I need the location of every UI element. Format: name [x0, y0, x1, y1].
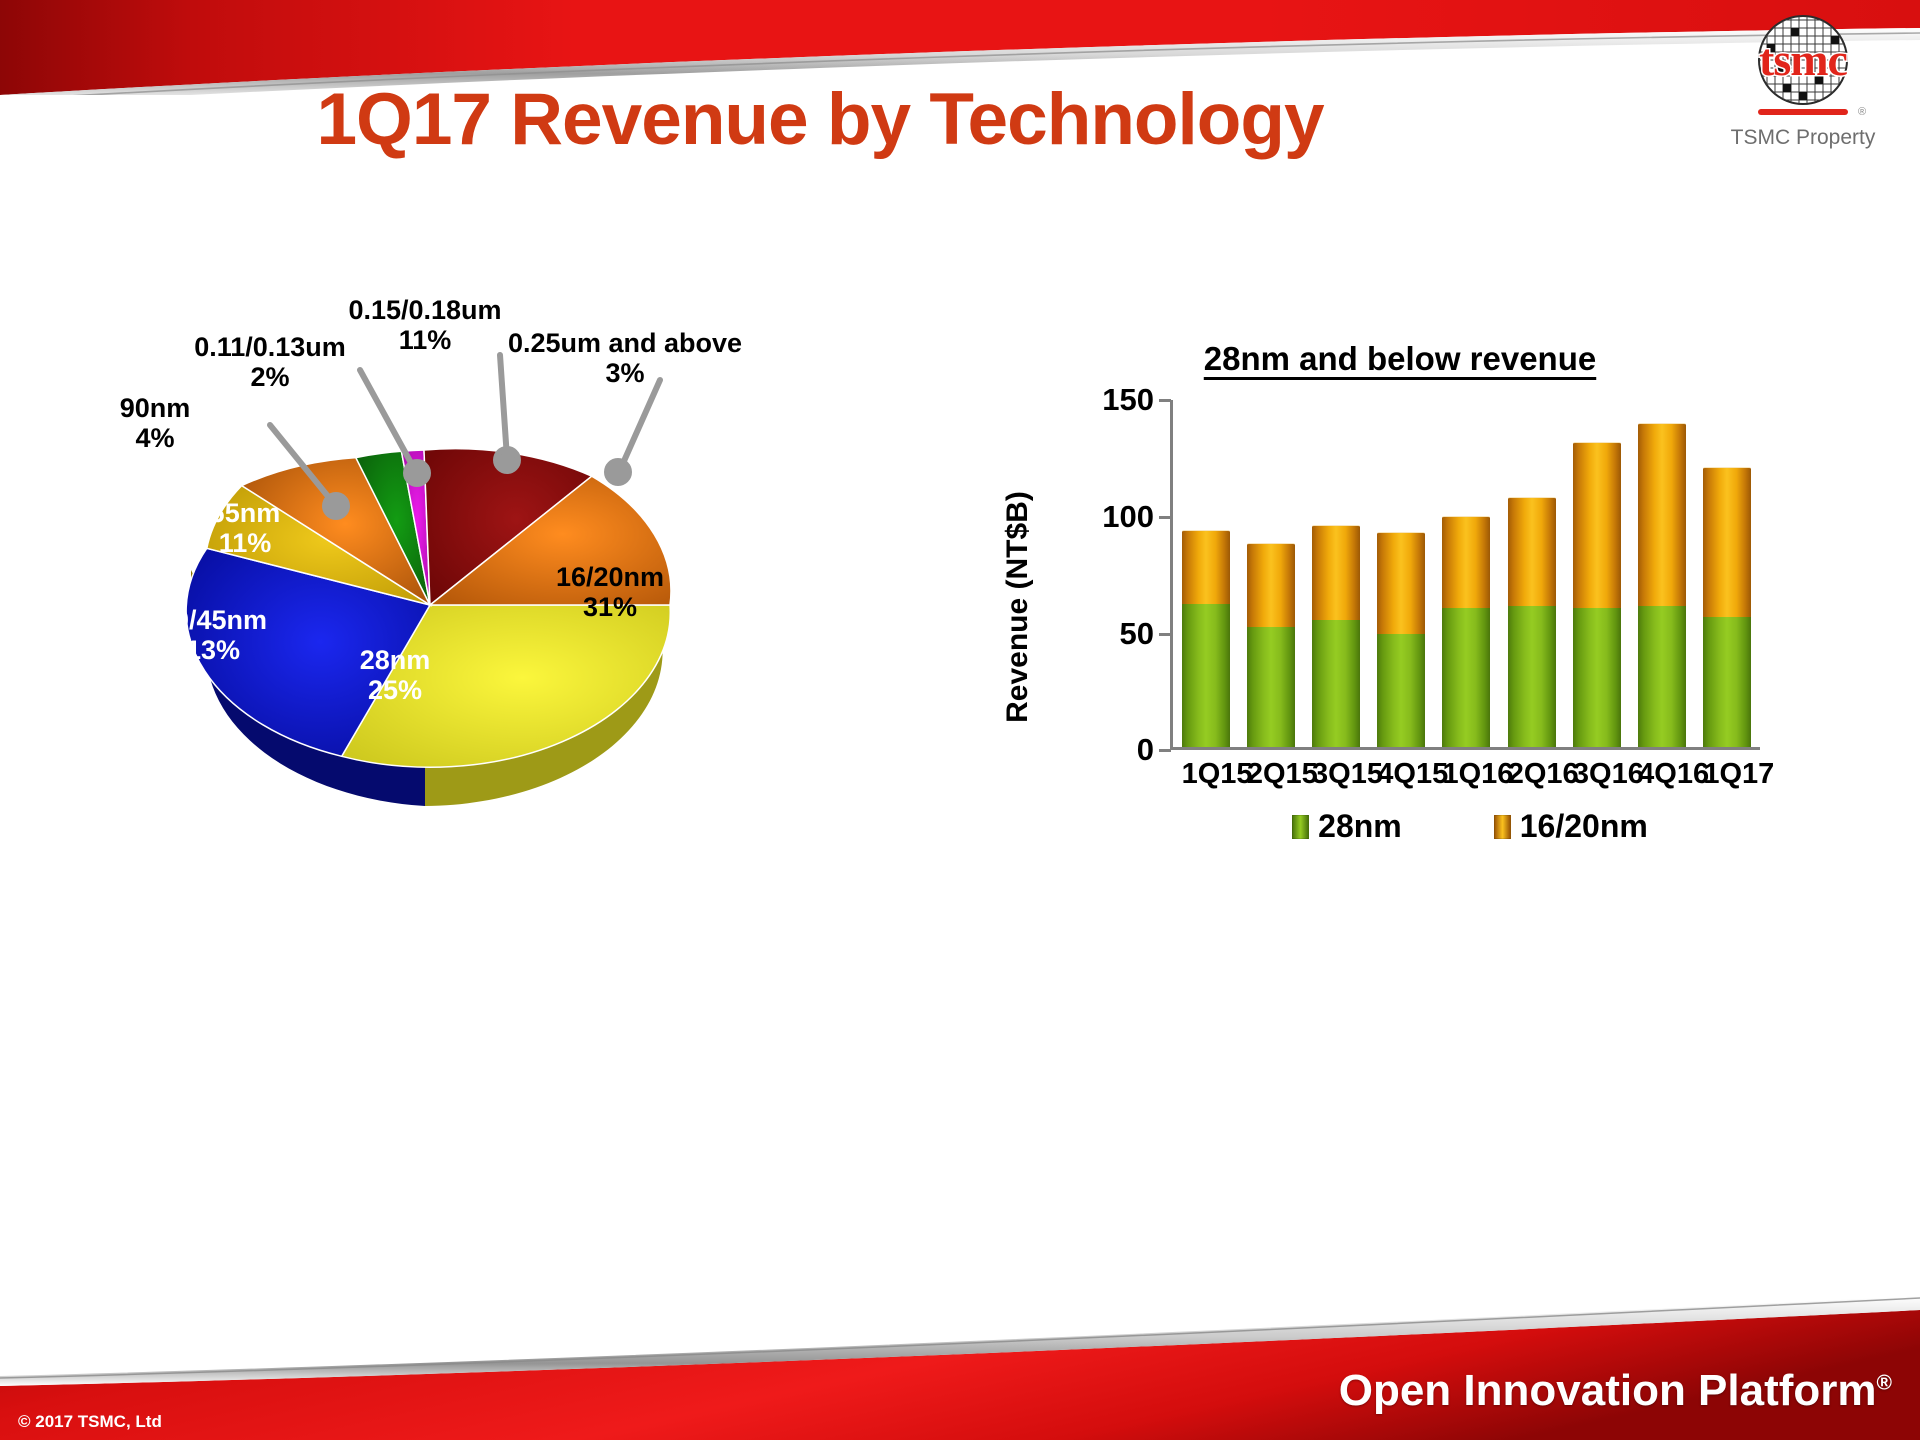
bar-segment-28nm — [1312, 620, 1360, 747]
y-tick-mark-50 — [1159, 633, 1171, 636]
x-axis-label: 1Q15 — [1182, 758, 1230, 791]
bar-chart: 28nm and below revenue Revenue (NT$B) 15… — [1020, 340, 1780, 1040]
bar-segment-16-20nm — [1377, 532, 1425, 634]
bar-chart-title: 28nm and below revenue — [1020, 340, 1780, 378]
legend-item: 28nm — [1292, 808, 1402, 845]
bar-chart-legend: 28nm16/20nm — [1170, 808, 1770, 845]
pie-callout-025um-above: 0.25um and above 3% — [480, 328, 770, 388]
x-axis-label: 3Q15 — [1312, 758, 1360, 791]
open-innovation-platform-brand: Open Innovation Platform® — [1339, 1366, 1892, 1416]
bar-segment-28nm — [1442, 608, 1490, 747]
bar-column — [1182, 530, 1230, 747]
bar-column — [1703, 467, 1751, 747]
copyright-notice: © 2017 TSMC, Ltd — [18, 1412, 162, 1432]
x-axis-label: 1Q16 — [1442, 758, 1490, 791]
x-axis-line — [1170, 747, 1760, 750]
y-tick-mark-150 — [1159, 399, 1171, 402]
legend-label: 28nm — [1318, 808, 1402, 845]
bar-segment-28nm — [1703, 617, 1751, 747]
y-tick-label-150: 150 — [1102, 382, 1154, 418]
bar-segment-16-20nm — [1508, 497, 1556, 606]
bar-segment-16-20nm — [1703, 467, 1751, 617]
slide-title: 1Q17 Revenue by Technology — [0, 78, 1640, 161]
bar-chart-y-axis-label: Revenue (NT$B) — [1001, 417, 1035, 797]
tsmc-property-caption: TSMC Property — [1708, 126, 1898, 150]
bar-chart-plot-area: 150 100 50 0 — [1170, 400, 1760, 750]
tsmc-logo-icon: tsmc ® — [1708, 12, 1898, 124]
pie-callout-90nm: 90nm 4% — [100, 393, 210, 453]
x-axis-label: 4Q15 — [1377, 758, 1425, 791]
bar-column — [1312, 525, 1360, 747]
pie-label-28nm: 28nm 25% — [320, 645, 470, 705]
bottom-decorative-banner: Open Innovation Platform® © 2017 TSMC, L… — [0, 1290, 1920, 1440]
bar-segment-16-20nm — [1638, 423, 1686, 606]
bar-group — [1173, 400, 1760, 747]
bar-column — [1377, 532, 1425, 747]
bar-segment-28nm — [1182, 604, 1230, 747]
legend-swatch-icon — [1494, 815, 1511, 839]
x-axis-label: 2Q15 — [1247, 758, 1295, 791]
bar-segment-16-20nm — [1442, 516, 1490, 609]
legend-item: 16/20nm — [1494, 808, 1648, 845]
bar-segment-28nm — [1638, 606, 1686, 747]
bar-chart-x-axis-labels: 1Q152Q153Q154Q151Q162Q163Q164Q161Q17 — [1173, 758, 1760, 791]
y-tick-mark-100 — [1159, 516, 1171, 519]
bar-column — [1638, 423, 1686, 747]
bar-segment-16-20nm — [1182, 530, 1230, 604]
bar-segment-28nm — [1573, 608, 1621, 747]
pie-label-16-20nm: 16/20nm 31% — [520, 562, 700, 622]
bar-segment-16-20nm — [1573, 442, 1621, 609]
bar-segment-16-20nm — [1247, 543, 1295, 626]
bar-column — [1442, 516, 1490, 747]
pie-label-65nm: 65nm 11% — [170, 498, 320, 558]
pie-chart: 90nm 4% 0.11/0.13um 2% 0.15/0.18um 11% 0… — [60, 250, 860, 860]
bar-segment-28nm — [1247, 627, 1295, 747]
tsmc-logo-block: tsmc ® TSMC Property — [1708, 12, 1898, 150]
y-tick-label-50: 50 — [1120, 616, 1154, 652]
svg-text:®: ® — [1858, 106, 1866, 118]
x-axis-label: 2Q16 — [1508, 758, 1556, 791]
bar-column — [1247, 543, 1295, 747]
bar-column — [1508, 497, 1556, 747]
x-axis-label: 3Q16 — [1573, 758, 1621, 791]
pie-label-40-45nm: 40/45nm 13% — [118, 605, 308, 665]
legend-label: 16/20nm — [1520, 808, 1648, 845]
y-tick-mark-0 — [1159, 749, 1171, 752]
bar-segment-16-20nm — [1312, 525, 1360, 620]
y-tick-label-100: 100 — [1102, 499, 1154, 535]
x-axis-label: 1Q17 — [1703, 758, 1751, 791]
y-tick-label-0: 0 — [1137, 732, 1154, 768]
bar-segment-28nm — [1508, 606, 1556, 747]
bar-column — [1573, 442, 1621, 747]
svg-text:tsmc: tsmc — [1759, 34, 1848, 85]
bar-segment-28nm — [1377, 634, 1425, 747]
x-axis-label: 4Q16 — [1638, 758, 1686, 791]
legend-swatch-icon — [1292, 815, 1309, 839]
